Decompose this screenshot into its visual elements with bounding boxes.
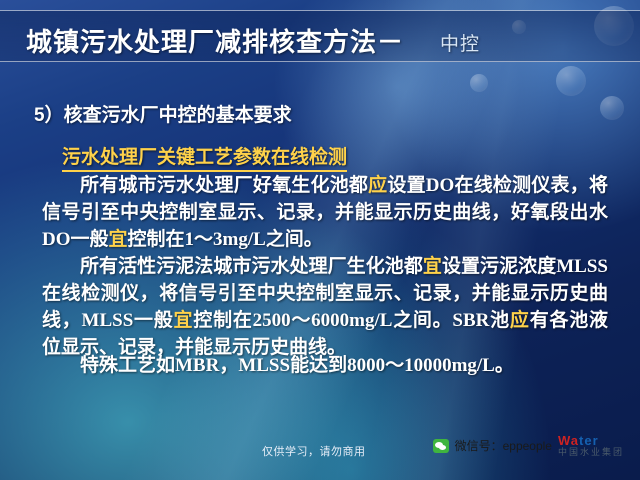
page-title: 城镇污水处理厂减排核查方法－ (26, 22, 404, 59)
slide-canvas: 城镇污水处理厂减排核查方法－ 中控 5）核查污水厂中控的基本要求 污水处理厂关键… (0, 0, 640, 480)
watermark-brand: Water 中国水业集团 (558, 434, 624, 457)
body-paragraph-1: 所有城市污水处理厂好氧生化池都应设置DO在线检测仪表，将信号引至中央控制室显示、… (42, 172, 608, 253)
bubble-icon (470, 74, 488, 92)
emphasis-char: 宜 (109, 229, 128, 250)
watermark-brand-left: Wa (558, 433, 579, 448)
watermark-brand-right: ter (579, 433, 599, 448)
section-heading: 5）核查污水厂中控的基本要求 (34, 100, 292, 127)
bubble-icon (600, 96, 624, 120)
page-subtitle: 中控 (440, 29, 480, 56)
usage-footnote: 仅供学习，请勿商用 (262, 443, 366, 459)
emphasis-char: 宜 (174, 310, 194, 331)
watermark-label: 微信号：eppeople (455, 437, 552, 454)
watermark: 微信号：eppeople Water 中国水业集团 (433, 434, 624, 457)
wechat-icon (433, 439, 449, 453)
emphasis-char: 应 (368, 175, 387, 196)
body-paragraph-2: 所有活性污泥法城市污水处理厂生化池都宜设置污泥浓度MLSS在线检测仪，将信号引至… (42, 253, 608, 361)
watermark-brand-sub: 中国水业集团 (558, 448, 624, 457)
emphasis-char: 应 (510, 310, 530, 331)
body-paragraph-3: 特殊工艺如MBR，MLSS能达到8000～10000mg/L。 (42, 352, 608, 379)
emphasis-char: 宜 (423, 256, 442, 277)
watermark-brand-text: Water (558, 434, 599, 448)
section-subheading: 污水处理厂关键工艺参数在线检测 (62, 142, 347, 172)
bubble-icon (556, 66, 586, 96)
slide-title-bar: 城镇污水处理厂减排核查方法－ 中控 (0, 10, 640, 62)
